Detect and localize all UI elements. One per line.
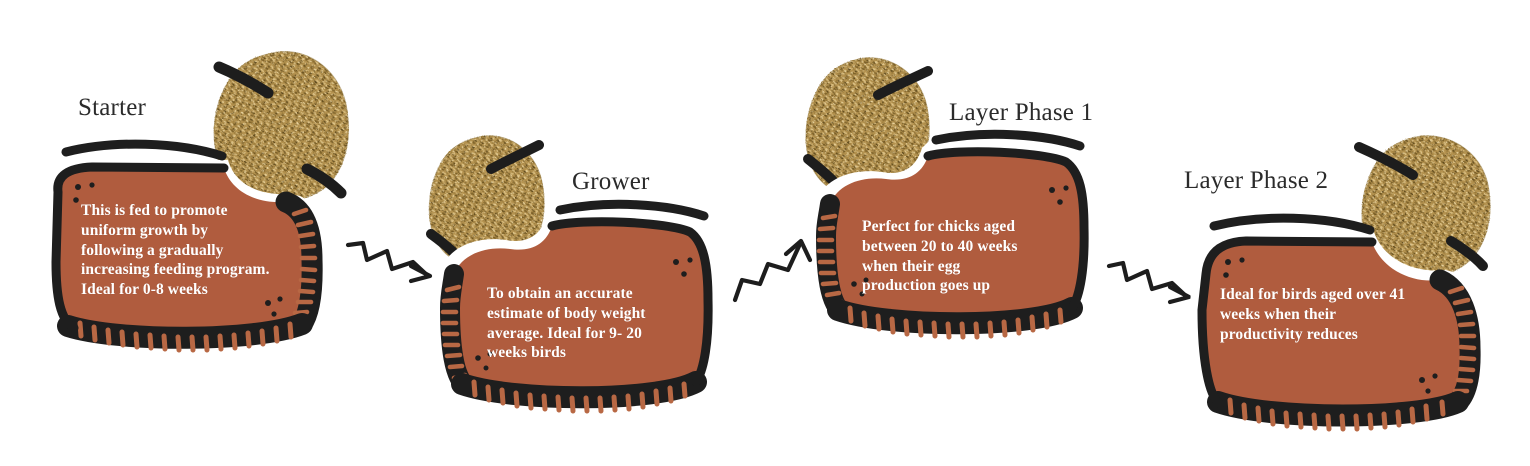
panel-body-starter: This is fed to promote uniform growth by… (81, 201, 321, 300)
infographic-canvas: Starter (0, 0, 1530, 466)
phase-title-layer-phase-2: Layer Phase 2 (1184, 167, 1328, 195)
phase-title-layer-phase-1: Layer Phase 1 (949, 99, 1093, 127)
sack-stitch-bottom (68, 323, 302, 350)
panel-body-grower: To obtain an accurate estimate of body w… (487, 284, 712, 363)
panel-body-layer-phase-2: Ideal for birds aged over 41 weeks when … (1220, 285, 1450, 344)
phase-title-starter: Starter (78, 94, 146, 122)
sack-stitch-bottom (838, 308, 1072, 337)
panel-body-layer-phase-1: Perfect for chicks aged between 20 to 40… (862, 217, 1077, 296)
phase-title-grower: Grower (572, 168, 650, 196)
sack-stitch-bottom (462, 382, 696, 411)
